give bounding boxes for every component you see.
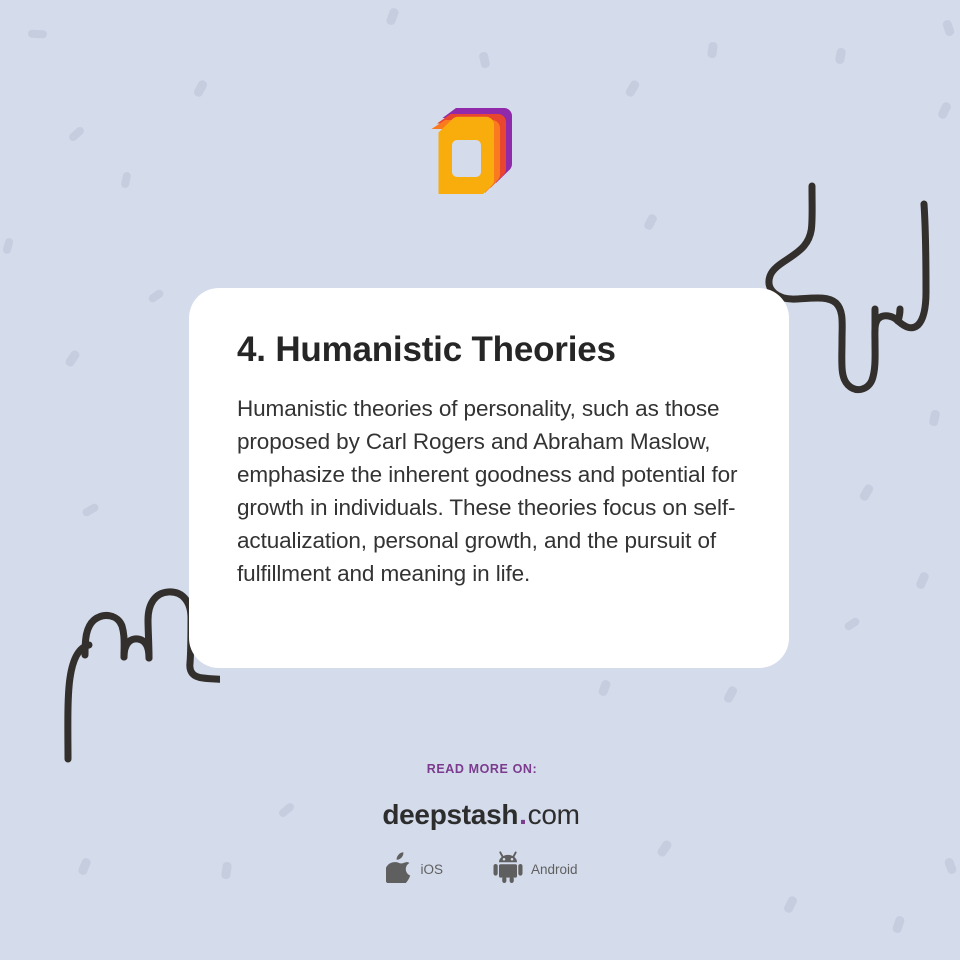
idea-card: 4. Humanistic Theories Humanistic theori…: [189, 288, 789, 668]
android-icon: [493, 851, 523, 888]
confetti-dash: [937, 101, 953, 120]
poster-canvas: 4. Humanistic Theories Humanistic theori…: [0, 0, 960, 960]
confetti-dash: [858, 483, 874, 502]
wordmark-dot: .: [518, 799, 527, 830]
wordmark-name: deepstash: [382, 799, 518, 830]
confetti-dash: [892, 915, 906, 934]
card-title: 4. Humanistic Theories: [237, 330, 741, 370]
confetti-dash: [81, 502, 100, 517]
confetti-dash: [942, 19, 956, 37]
app-store-badges: iOS: [0, 851, 960, 888]
confetti-dash: [68, 125, 86, 142]
confetti-dash: [478, 51, 490, 69]
ios-label: iOS: [420, 862, 443, 877]
confetti-dash: [915, 571, 930, 590]
confetti-dash: [723, 685, 739, 704]
confetti-dash: [843, 616, 861, 632]
card-body-text: Humanistic theories of personality, such…: [237, 392, 741, 590]
confetti-dash: [193, 79, 209, 98]
confetti-dash: [2, 237, 14, 255]
confetti-dash: [624, 79, 640, 98]
confetti-dash: [707, 41, 718, 58]
logo-layer-amber: [439, 117, 495, 194]
deepstash-logo: [430, 108, 516, 194]
wordmark-tld: com: [528, 799, 580, 830]
android-label: Android: [531, 862, 578, 877]
confetti-dash: [643, 213, 658, 231]
ios-store-badge[interactable]: iOS: [386, 852, 443, 888]
android-store-badge[interactable]: Android: [493, 851, 578, 888]
confetti-dash: [598, 679, 612, 697]
confetti-dash: [928, 409, 940, 427]
apple-icon: [386, 852, 412, 888]
confetti-dash: [28, 30, 47, 39]
confetti-dash: [783, 895, 799, 914]
confetti-dash: [147, 288, 165, 304]
confetti-dash: [385, 7, 399, 26]
footer: READ MORE ON: deepstash.com iOS: [0, 762, 960, 888]
confetti-dash: [120, 171, 131, 188]
confetti-dash: [835, 47, 847, 64]
confetti-dash: [64, 349, 81, 368]
deepstash-wordmark[interactable]: deepstash.com: [0, 801, 960, 829]
read-more-label: READ MORE ON:: [0, 762, 960, 776]
